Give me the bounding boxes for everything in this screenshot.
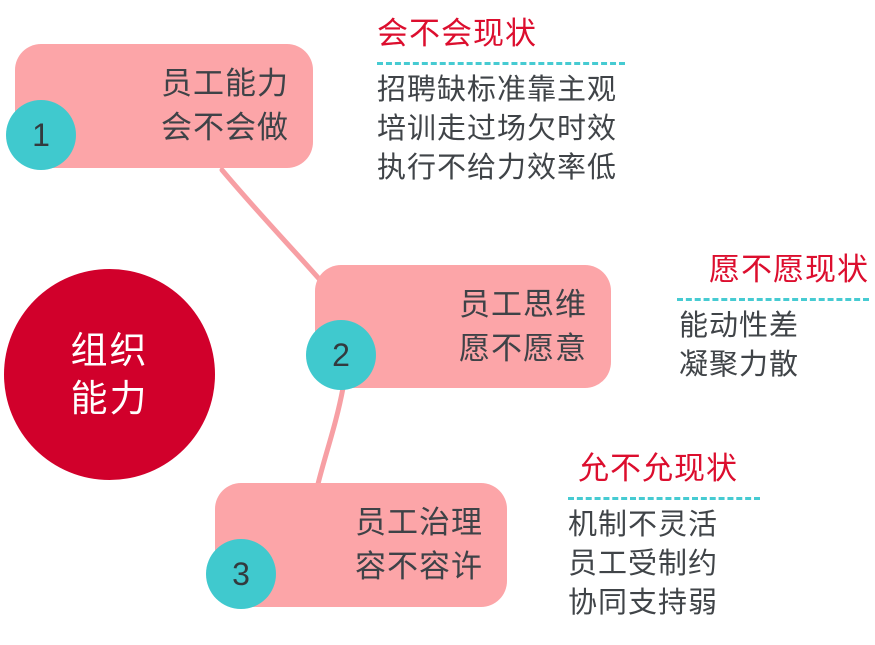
note-3-divider xyxy=(568,497,760,500)
node-badge-1: 1 xyxy=(6,100,76,170)
node-badge-2: 2 xyxy=(306,320,376,390)
note-3-title: 允不允现状 xyxy=(560,449,778,489)
node-badge-3: 3 xyxy=(206,539,276,609)
note-2-line-1: 能动性差 xyxy=(679,307,869,346)
note-1-line-3: 执行不给力效率低 xyxy=(377,149,625,188)
note-1-line-2: 培训走过场欠时效 xyxy=(377,110,625,149)
note-3-body: 机制不灵活 员工受制约 协同支持弱 xyxy=(560,506,778,623)
node-2-line-2: 愿不愿意 xyxy=(459,327,587,371)
core-line-1: 组织 xyxy=(71,327,149,375)
node-3-line-2: 容不容许 xyxy=(355,545,483,589)
diagram-canvas: 组织 能力 员工能力 会不会做 1 员工思维 愿不愿意 2 员工治理 容不容许 … xyxy=(0,0,875,645)
note-1-divider xyxy=(377,62,625,65)
core-line-2: 能力 xyxy=(71,375,149,423)
note-3-line-2: 员工受制约 xyxy=(568,545,778,584)
node-3-line-1: 员工治理 xyxy=(355,501,483,545)
note-2-body: 能动性差 凝聚力散 xyxy=(655,307,869,385)
node-2-line-1: 员工思维 xyxy=(459,283,587,327)
note-2-title: 愿不愿现状 xyxy=(655,250,869,290)
connector-2-to-3 xyxy=(318,388,343,484)
note-2-divider xyxy=(677,298,869,301)
note-1-body: 招聘缺标准靠主观 培训走过场欠时效 执行不给力效率低 xyxy=(377,71,625,188)
note-1-title: 会不会现状 xyxy=(377,14,625,54)
node-1-line-1: 员工能力 xyxy=(161,62,289,106)
core-circle: 组织 能力 xyxy=(4,269,215,480)
note-1-line-1: 招聘缺标准靠主观 xyxy=(377,71,625,110)
note-block-3: 允不允现状 机制不灵活 员工受制约 协同支持弱 xyxy=(560,449,778,623)
note-3-line-3: 协同支持弱 xyxy=(568,584,778,623)
note-3-line-1: 机制不灵活 xyxy=(568,506,778,545)
connector-1-to-2 xyxy=(222,170,321,281)
note-block-2: 愿不愿现状 能动性差 凝聚力散 xyxy=(655,250,869,385)
node-1-line-2: 会不会做 xyxy=(161,106,289,150)
note-block-1: 会不会现状 招聘缺标准靠主观 培训走过场欠时效 执行不给力效率低 xyxy=(377,14,625,188)
note-2-line-2: 凝聚力散 xyxy=(679,346,869,385)
